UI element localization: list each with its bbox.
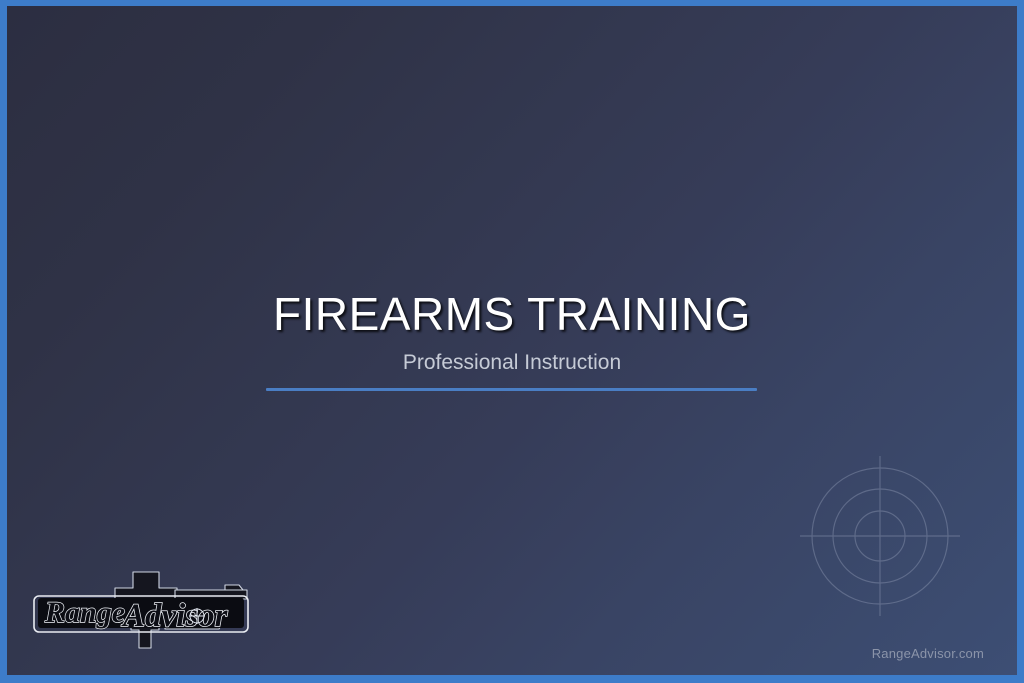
crosshair-target-icon bbox=[795, 451, 965, 621]
slide-frame: FIREARMS TRAINING Professional Instructi… bbox=[0, 0, 1024, 683]
brand-logo-word-one: Range bbox=[44, 596, 125, 629]
site-watermark: RangeAdvisor.com bbox=[872, 646, 984, 661]
page-subtitle: Professional Instruction bbox=[7, 350, 1017, 375]
accent-divider bbox=[266, 388, 757, 391]
title-block: FIREARMS TRAINING Professional Instructi… bbox=[7, 290, 1017, 375]
page-title: FIREARMS TRAINING bbox=[7, 290, 1017, 340]
slide-canvas: FIREARMS TRAINING Professional Instructi… bbox=[7, 6, 1017, 675]
brand-logo: RangeAdvisor Range Advisor bbox=[25, 558, 265, 662]
brand-logo-word-two: Advisor bbox=[121, 598, 229, 634]
